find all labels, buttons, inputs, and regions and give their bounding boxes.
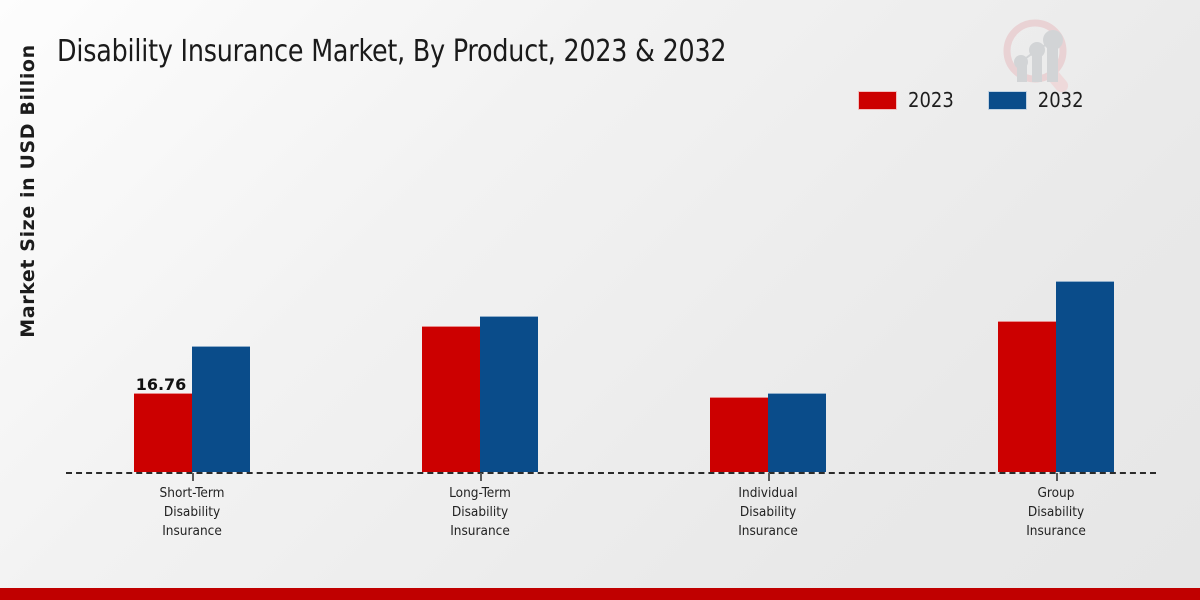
category-label-0: Short-TermDisabilityInsurance (92, 484, 292, 541)
x-axis-tick-3 (1056, 473, 1058, 481)
bar-2023-group-0[interactable] (134, 393, 192, 472)
bar-2032-group-1[interactable] (480, 316, 538, 472)
category-label-line: Disability (380, 503, 580, 522)
category-label-3: GroupDisabilityInsurance (956, 484, 1156, 541)
category-label-1: Long-TermDisabilityInsurance (380, 484, 580, 541)
category-label-line: Individual (668, 484, 868, 503)
category-label-line: Long-Term (380, 484, 580, 503)
footer-accent-bar (0, 588, 1200, 600)
category-label-line: Disability (956, 503, 1156, 522)
category-label-line: Group (956, 484, 1156, 503)
category-label-line: Disability (668, 503, 868, 522)
x-axis-baseline (66, 472, 1156, 474)
x-axis-tick-0 (192, 473, 194, 481)
category-label-line: Insurance (668, 522, 868, 541)
bar-2023-group-2[interactable] (710, 397, 768, 472)
category-label-line: Disability (92, 503, 292, 522)
bar-2032-group-3[interactable] (1056, 281, 1114, 472)
chart-canvas: Disability Insurance Market, By Product,… (0, 0, 1200, 600)
category-label-line: Insurance (956, 522, 1156, 541)
category-label-line: Insurance (380, 522, 580, 541)
bar-2032-group-2[interactable] (768, 393, 826, 472)
bar-2032-group-0[interactable] (192, 346, 250, 472)
bar-value-label-2023-group-0: 16.76 (132, 375, 190, 394)
category-label-line: Short-Term (92, 484, 292, 503)
bar-2023-group-1[interactable] (422, 326, 480, 472)
x-axis-tick-1 (480, 473, 482, 481)
x-axis-tick-2 (768, 473, 770, 481)
category-label-2: IndividualDisabilityInsurance (668, 484, 868, 541)
plot-area: 16.76 Short-TermDisabilityInsuranceLong-… (0, 0, 1200, 600)
category-label-line: Insurance (92, 522, 292, 541)
bar-2023-group-3[interactable] (998, 321, 1056, 472)
